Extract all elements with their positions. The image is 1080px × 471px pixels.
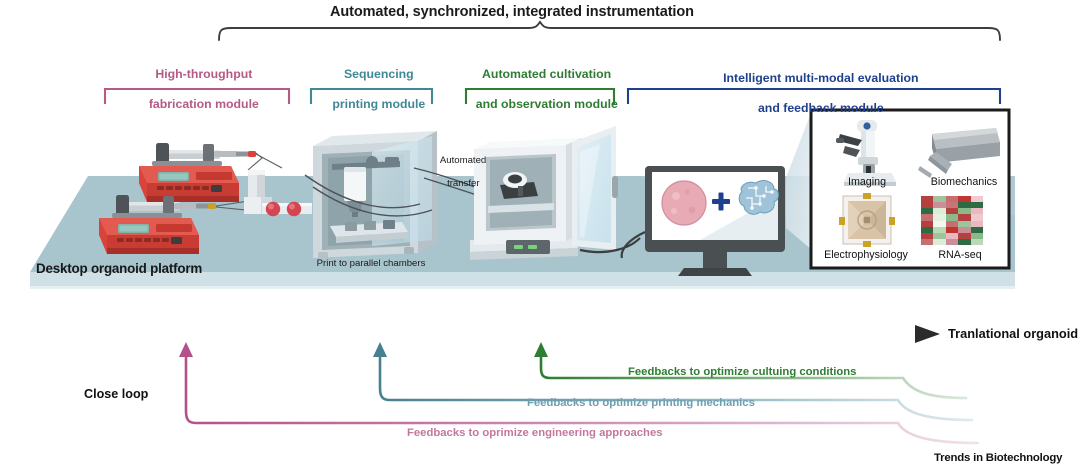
- figure-top-title: Automated, synchronized, integrated inst…: [330, 4, 694, 21]
- module-1-line-2: fabrication module: [149, 97, 259, 111]
- figure-footer: Trends in Biotechnology: [934, 452, 1062, 465]
- feedback-label-culturing: Feedbacks to optimize cultuing condition…: [628, 366, 856, 379]
- inset-callout-wedge: [786, 110, 812, 250]
- annotation-print-to-parallel-chambers: Print to parallel chambers: [301, 258, 441, 270]
- module-3-line-2: and observation module: [476, 97, 618, 111]
- annotation-automated-transfer: Automated transfer: [422, 143, 494, 201]
- syringe-pump-lower: [99, 195, 216, 254]
- module-1-line-1: High-throughput: [155, 67, 252, 81]
- module-label-sequencing-printing: Sequencing printing module: [299, 52, 445, 127]
- feedback-label-printing: Feedbacks to optimize printing mechanics: [527, 397, 755, 410]
- inset-caption-rna-seq: RNA-seq: [920, 249, 1000, 261]
- inset-caption-biomechanics: Biomechanics: [918, 176, 1010, 188]
- module-2-line-1: Sequencing: [344, 67, 414, 81]
- translational-arrow: [122, 325, 940, 343]
- automated-transfer-line-1: Automated: [440, 155, 486, 166]
- inset-caption-imaging: Imaging: [825, 176, 909, 188]
- module-label-high-throughput-fabrication: High-throughput fabrication module: [117, 52, 277, 127]
- module-label-intelligent-evaluation: Intelligent multi-modal evaluation and f…: [684, 56, 944, 131]
- main-bracket: [219, 22, 1000, 40]
- figure-root: Automated, synchronized, integrated inst…: [0, 0, 1080, 471]
- module-2-line-2: printing module: [332, 97, 425, 111]
- inset-caption-electrophysiology: Electrophysiology: [812, 249, 920, 261]
- syringe-pump-upper: [139, 143, 256, 202]
- heatmap-icon: [921, 196, 983, 245]
- coaxial-nozzle: [216, 153, 312, 216]
- monitor: [622, 166, 785, 276]
- mea-chip-icon: [839, 193, 895, 247]
- automated-transfer-line-2: transfer: [447, 178, 480, 189]
- translational-organoid-label: Tranlational organoid: [948, 327, 1078, 342]
- module-4-line-1: Intelligent multi-modal evaluation: [723, 71, 918, 85]
- platform-label: Desktop organoid platform: [36, 261, 202, 276]
- module-4-line-2: and feedback module: [758, 101, 884, 115]
- heatmap-cell-7-3: [958, 239, 970, 245]
- module-3-line-1: Automated cultivation: [482, 67, 611, 81]
- incubator: [470, 126, 640, 260]
- close-loop-label: Close loop: [84, 387, 148, 401]
- heatmap-cell-7-0: [921, 239, 933, 245]
- feedback-label-engineering: Feedbacks to oprimize engineering approa…: [407, 427, 663, 440]
- bioprinter: [313, 131, 437, 259]
- heatmap-cell-7-1: [933, 239, 945, 245]
- cantilever-icon: [918, 128, 1000, 178]
- module-label-automated-cultivation: Automated cultivation and observation mo…: [457, 52, 623, 127]
- heatmap-cell-7-2: [946, 239, 958, 245]
- heatmap-cell-7-4: [971, 239, 983, 245]
